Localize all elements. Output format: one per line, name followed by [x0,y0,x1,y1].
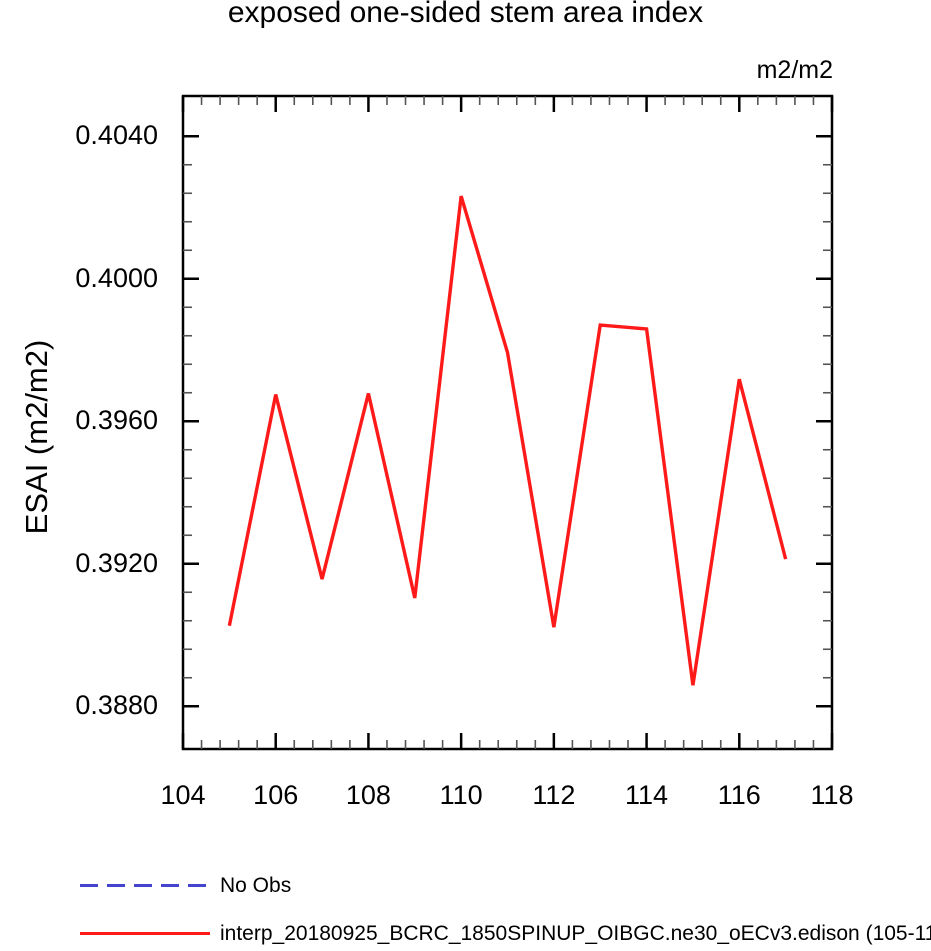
chart-legend: No Obs interp_20180925_BCRC_1850SPINUP_O… [0,862,931,951]
y-tick-label: 0.3960 [18,407,158,434]
legend-swatch-dashed-blue [80,884,210,888]
legend-dash-segment [161,884,179,887]
x-tick-label: 114 [607,782,687,809]
legend-dash-segment [107,884,125,887]
x-tick-label: 112 [514,782,594,809]
legend-label-series: interp_20180925_BCRC_1850SPINUP_OIBGC.ne… [220,920,931,948]
y-tick-label: 0.4040 [18,122,158,149]
x-tick-label: 104 [143,782,223,809]
legend-dash-segment [134,884,152,887]
x-tick-label: 118 [792,782,872,809]
legend-label-no-obs: No Obs [220,872,291,900]
chart-page: exposed one-sided stem area index m2/m2 … [0,0,931,951]
legend-dash-segment [188,884,206,887]
x-tick-label: 108 [328,782,408,809]
plot-frame [183,96,832,749]
y-tick-label: 0.3920 [18,550,158,577]
legend-dash-segment [80,884,98,887]
y-tick-label: 0.3880 [18,692,158,719]
x-tick-label: 110 [421,782,501,809]
legend-swatch-solid-red [80,932,210,935]
y-tick-label: 0.4000 [18,265,158,292]
x-tick-label: 106 [236,782,316,809]
x-tick-label: 116 [699,782,779,809]
